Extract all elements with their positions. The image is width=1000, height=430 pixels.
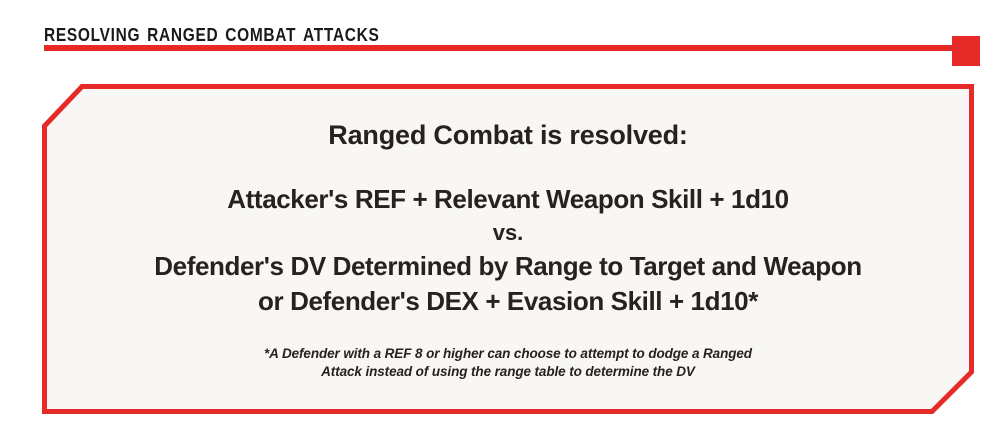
page-title: Resolving Ranged Combat Attacks bbox=[44, 18, 380, 46]
header-rule-end-block bbox=[952, 36, 980, 66]
formula-attacker-line: Attacker's REF + Relevant Weapon Skill +… bbox=[82, 182, 934, 217]
formula-defender-line-1: Defender's DV Determined by Range to Tar… bbox=[82, 249, 934, 284]
section-header: Resolving Ranged Combat Attacks bbox=[44, 18, 980, 70]
callout-content: Ranged Combat is resolved: Attacker's RE… bbox=[42, 84, 974, 414]
header-rule bbox=[44, 45, 954, 51]
formula-defender-line-2: or Defender's DEX + Evasion Skill + 1d10… bbox=[82, 284, 934, 319]
callout-footnote: *A Defender with a REF 8 or higher can c… bbox=[82, 345, 934, 381]
formula-versus-label: vs. bbox=[82, 217, 934, 249]
callout-lede: Ranged Combat is resolved: bbox=[82, 118, 934, 152]
footnote-line-2: Attack instead of using the range table … bbox=[82, 363, 934, 381]
ranged-combat-callout: Ranged Combat is resolved: Attacker's RE… bbox=[42, 84, 974, 414]
resolution-formula: Attacker's REF + Relevant Weapon Skill +… bbox=[82, 182, 934, 319]
footnote-line-1: *A Defender with a REF 8 or higher can c… bbox=[82, 345, 934, 363]
